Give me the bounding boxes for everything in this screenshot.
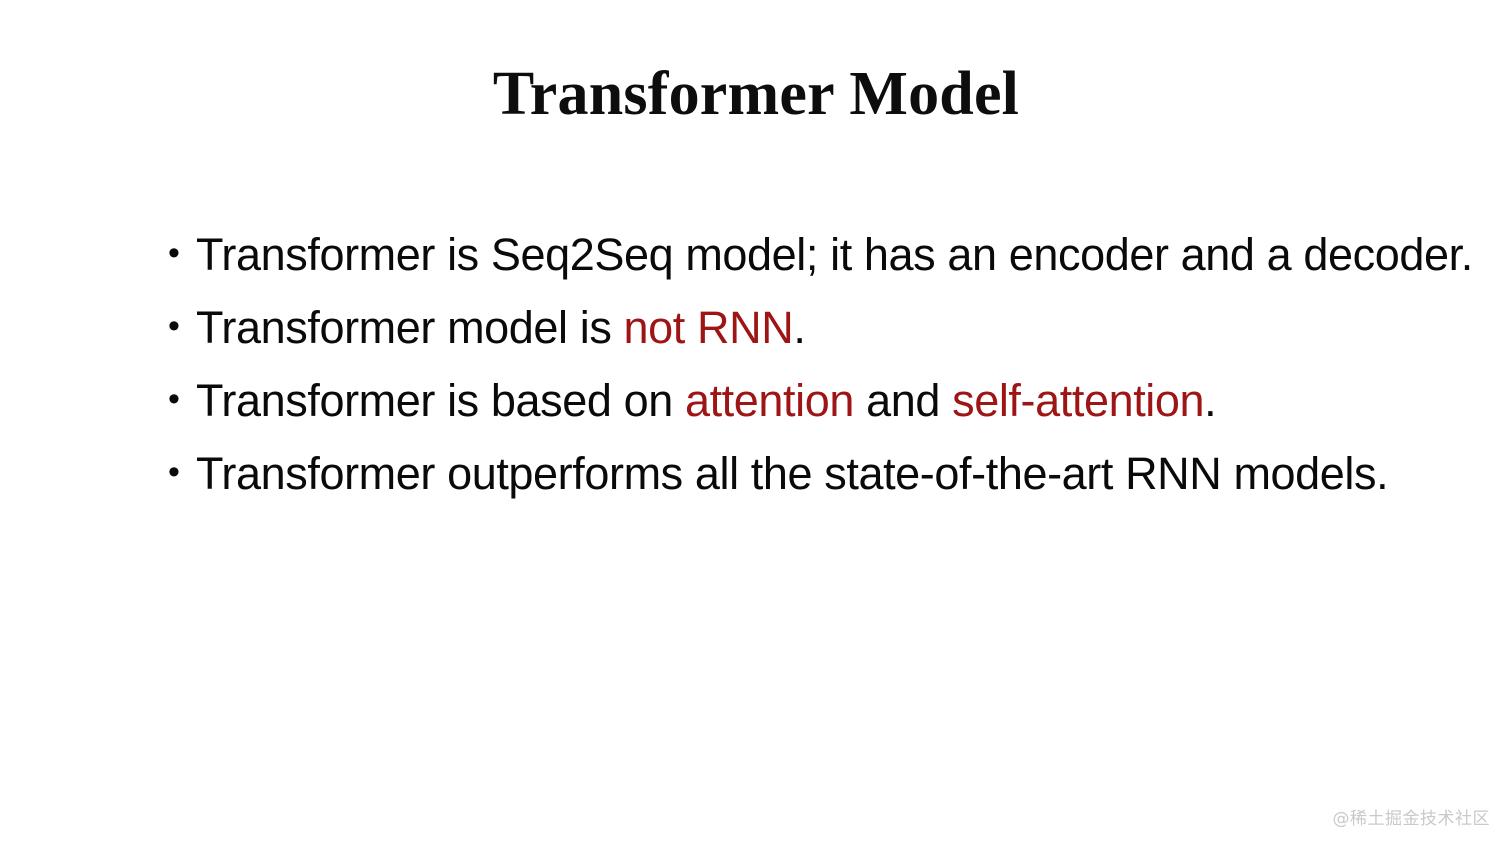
- list-item-text: Transformer model is not RNN.: [196, 302, 805, 353]
- list-item-text: Transformer is Seq2Seq model; it has an …: [196, 229, 1473, 280]
- bullet-point-icon: •: [168, 218, 190, 291]
- bullet-point-icon: •: [168, 437, 190, 510]
- plain-text: Transformer is based on: [196, 375, 685, 426]
- list-item: •Transformer is Seq2Seq model; it has an…: [166, 218, 1466, 291]
- bullet-point-icon: •: [168, 364, 190, 437]
- list-item-text: Transformer outperforms all the state-of…: [196, 448, 1388, 499]
- highlighted-term: attention: [685, 375, 854, 426]
- list-item: •Transformer model is not RNN.: [166, 291, 1466, 364]
- slide-canvas: Transformer Model •Transformer is Seq2Se…: [0, 0, 1512, 851]
- list-item-text: Transformer is based on attention and se…: [196, 375, 1216, 426]
- highlighted-term: self-attention: [952, 375, 1204, 426]
- list-item: •Transformer is based on attention and s…: [166, 364, 1466, 437]
- plain-text: Transformer model is: [196, 302, 624, 353]
- plain-text: .: [1204, 375, 1216, 426]
- watermark: @稀土掘金技术社区: [1333, 804, 1491, 829]
- page-title: Transformer Model: [0, 60, 1512, 128]
- plain-text: .: [793, 302, 805, 353]
- plain-text: Transformer is Seq2Seq model; it has an …: [196, 229, 1473, 280]
- bullet-point-icon: •: [168, 291, 190, 364]
- plain-text: and: [854, 375, 952, 426]
- list-item: •Transformer outperforms all the state-o…: [166, 437, 1466, 510]
- highlighted-term: not RNN: [624, 302, 794, 353]
- plain-text: Transformer outperforms all the state-of…: [196, 448, 1388, 499]
- bullet-list: •Transformer is Seq2Seq model; it has an…: [166, 218, 1466, 510]
